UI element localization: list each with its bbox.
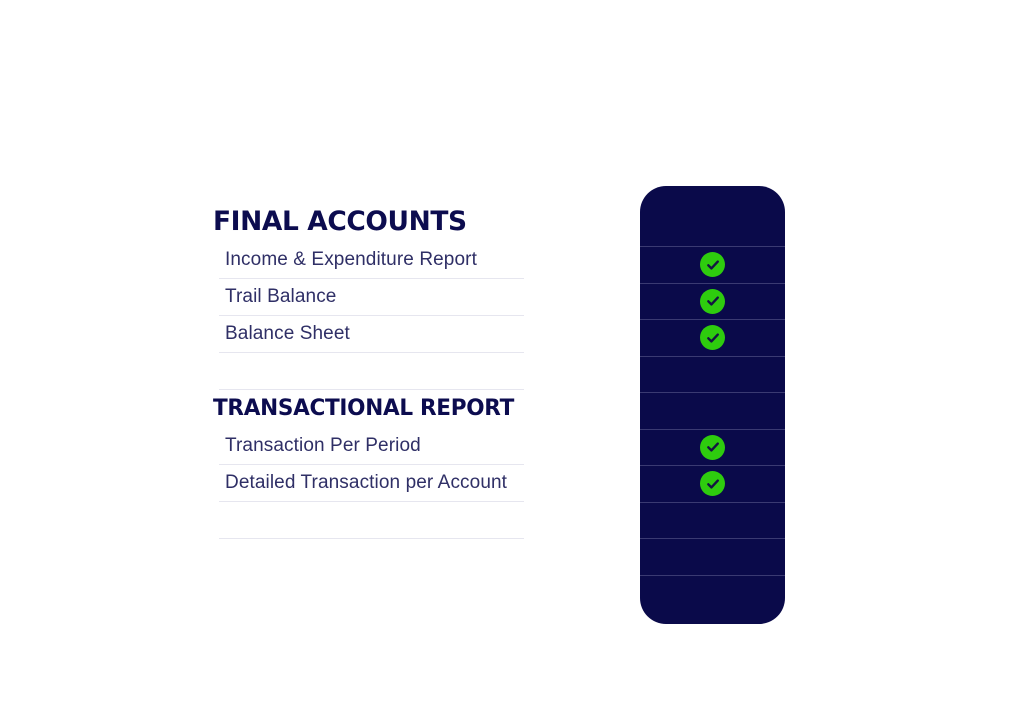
status-row-empty-slot [700,586,725,611]
check-circle-icon [700,471,725,496]
status-row-empty-slot [700,362,725,387]
check-circle-icon [700,252,725,277]
list-item[interactable]: Balance Sheet [219,316,524,353]
list-item-label: Trail Balance [225,285,336,309]
list-item[interactable]: Income & Expenditure Report [219,242,524,279]
status-row[interactable] [640,357,785,394]
status-panel [640,186,785,624]
status-row[interactable] [640,576,785,622]
status-row[interactable] [640,247,785,284]
list-item-label: Detailed Transaction per Account [225,471,507,495]
status-panel-header-row [640,186,785,247]
list-item-label: Transaction Per Period [225,434,421,458]
check-circle-icon [700,325,725,350]
status-row-empty-slot [700,398,725,423]
slide-canvas: FINAL ACCOUNTS Income & Expenditure Repo… [0,0,1024,724]
list-item-label: Income & Expenditure Report [225,248,477,272]
status-row[interactable] [640,503,785,540]
list-item-empty[interactable] [219,353,524,390]
list-item-label: Balance Sheet [225,322,350,346]
check-circle-icon [700,289,725,314]
list-item[interactable]: Transaction Per Period [219,428,524,465]
report-list: FINAL ACCOUNTS Income & Expenditure Repo… [213,202,525,576]
list-item-empty[interactable] [219,502,524,539]
status-row[interactable] [640,393,785,430]
status-row[interactable] [640,466,785,503]
check-circle-icon [700,435,725,460]
status-row[interactable] [640,539,785,576]
list-item-empty[interactable] [219,539,524,576]
status-row[interactable] [640,430,785,467]
list-item[interactable]: Detailed Transaction per Account [219,465,524,502]
section-heading-transactional-report: TRANSACTIONAL REPORT [213,390,519,428]
list-item[interactable]: Trail Balance [219,279,524,316]
status-row[interactable] [640,320,785,357]
status-row[interactable] [640,284,785,321]
section-heading-final-accounts: FINAL ACCOUNTS [213,202,519,242]
status-row-empty-slot [700,508,725,533]
status-row-empty-slot [700,544,725,569]
